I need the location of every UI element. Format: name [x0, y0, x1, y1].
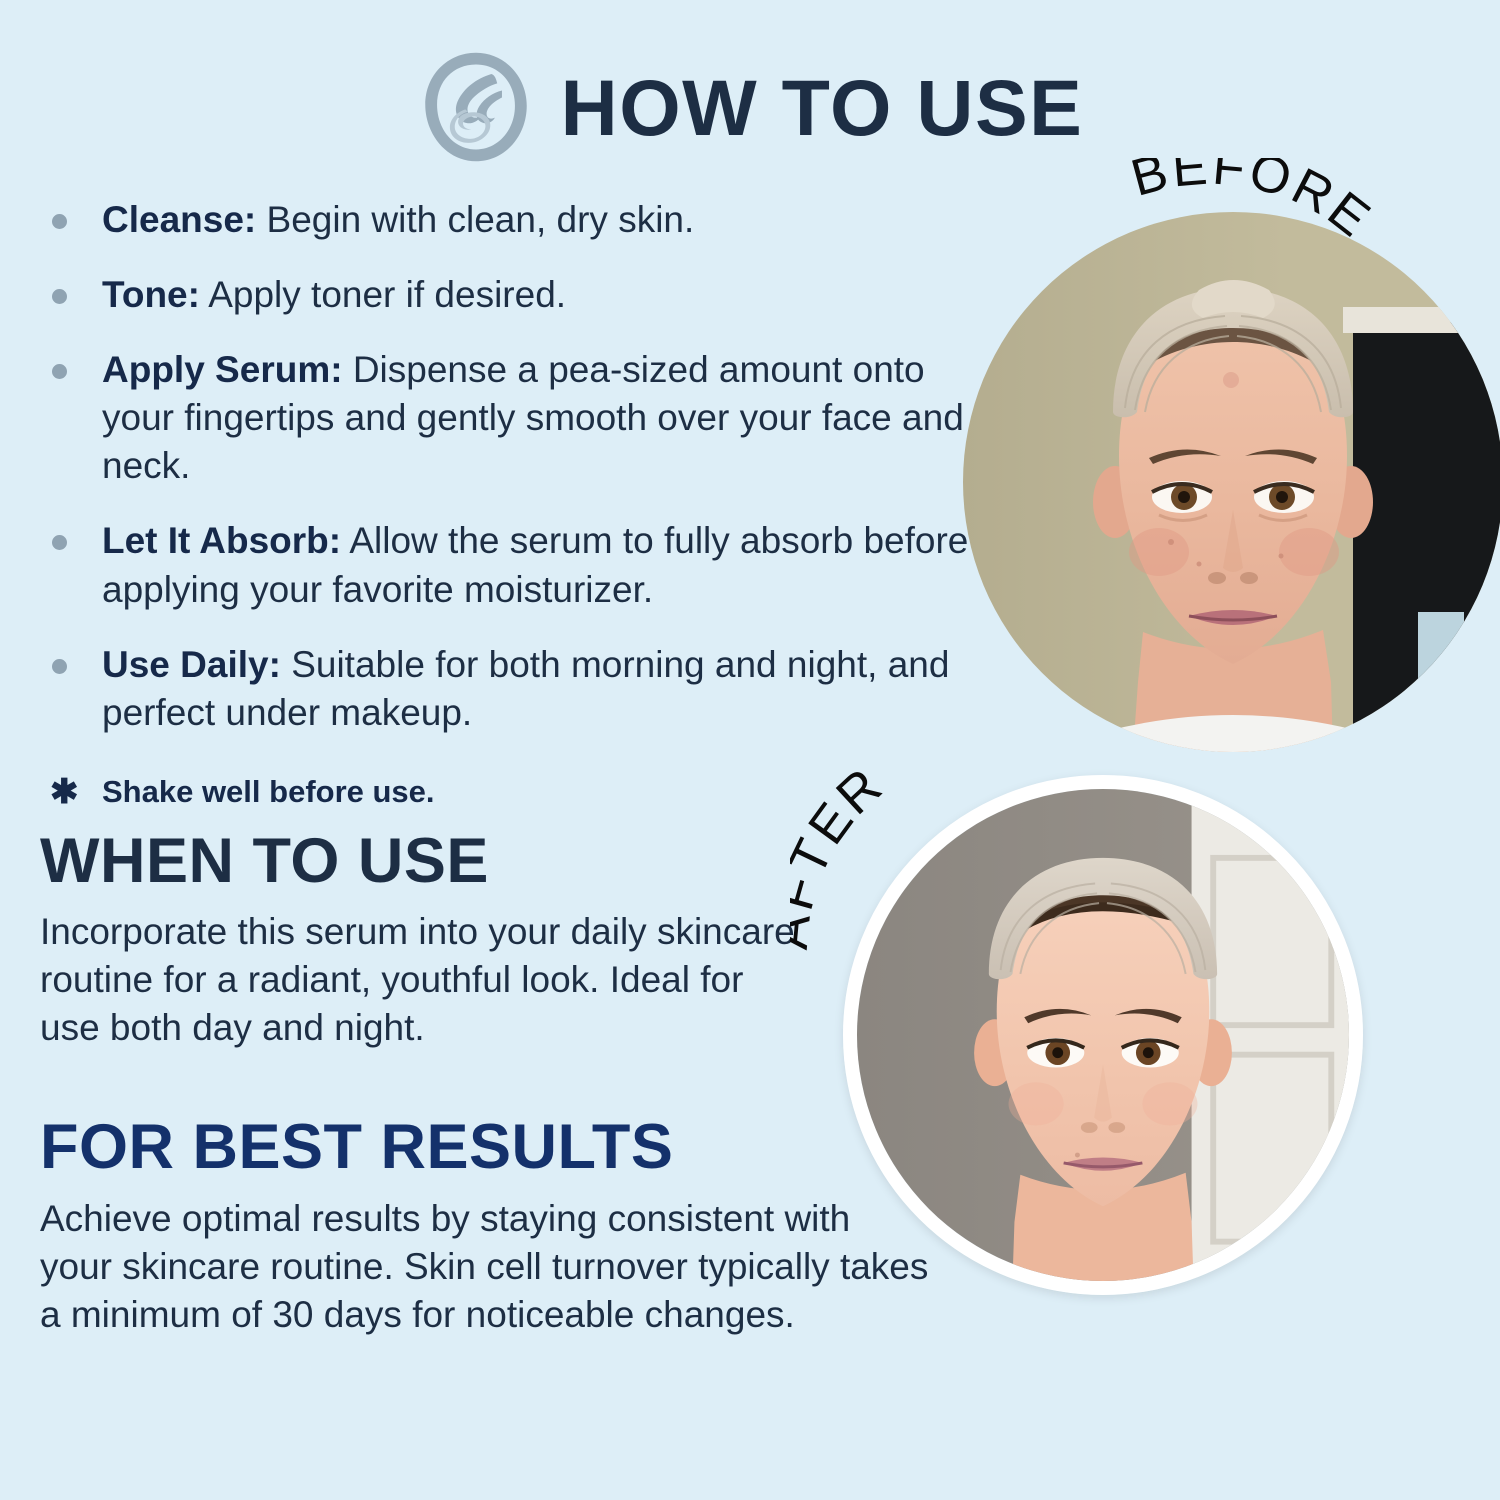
list-item: Let It Absorb: Allow the serum to fully …	[40, 517, 970, 613]
before-photo	[963, 212, 1500, 752]
step-label: Cleanse:	[102, 199, 256, 240]
step-text: Apply toner if desired.	[200, 274, 566, 315]
for-best-results-heading: FOR BEST RESULTS	[40, 1114, 970, 1180]
page-title: HOW TO USE	[561, 68, 1084, 147]
when-to-use-body: Incorporate this serum into your daily s…	[40, 908, 800, 1052]
for-best-results-body: Achieve optimal results by staying consi…	[40, 1195, 930, 1339]
list-item: Cleanse: Begin with clean, dry skin.	[40, 196, 970, 244]
bullet-dot-icon	[52, 659, 67, 674]
when-to-use-section: WHEN TO USE Incorporate this serum into …	[40, 828, 970, 1052]
bullet-dot-icon	[52, 535, 67, 550]
note-text: Shake well before use.	[102, 774, 435, 809]
bullet-dot-icon	[52, 289, 67, 304]
list-item: Tone: Apply toner if desired.	[40, 271, 970, 319]
how-to-use-steps: Cleanse: Begin with clean, dry skin. Ton…	[40, 196, 970, 737]
brush-circle-leaf-logo-icon	[417, 48, 535, 166]
step-label: Apply Serum:	[102, 349, 343, 390]
instructions-content: Cleanse: Begin with clean, dry skin. Ton…	[40, 196, 970, 1339]
shake-well-note: ✱ Shake well before use.	[40, 773, 970, 810]
step-text: Begin with clean, dry skin.	[256, 199, 694, 240]
step-label: Let It Absorb:	[102, 520, 341, 561]
list-item: Apply Serum: Dispense a pea-sized amount…	[40, 346, 970, 490]
asterisk-icon: ✱	[50, 775, 79, 809]
step-label: Tone:	[102, 274, 200, 315]
page-header: HOW TO USE	[0, 48, 1500, 166]
before-photo-image	[963, 212, 1500, 752]
list-item: Use Daily: Suitable for both morning and…	[40, 641, 970, 737]
bullet-dot-icon	[52, 364, 67, 379]
bullet-dot-icon	[52, 214, 67, 229]
for-best-results-section: FOR BEST RESULTS Achieve optimal results…	[40, 1114, 970, 1338]
when-to-use-heading: WHEN TO USE	[40, 828, 970, 894]
step-label: Use Daily:	[102, 644, 281, 685]
